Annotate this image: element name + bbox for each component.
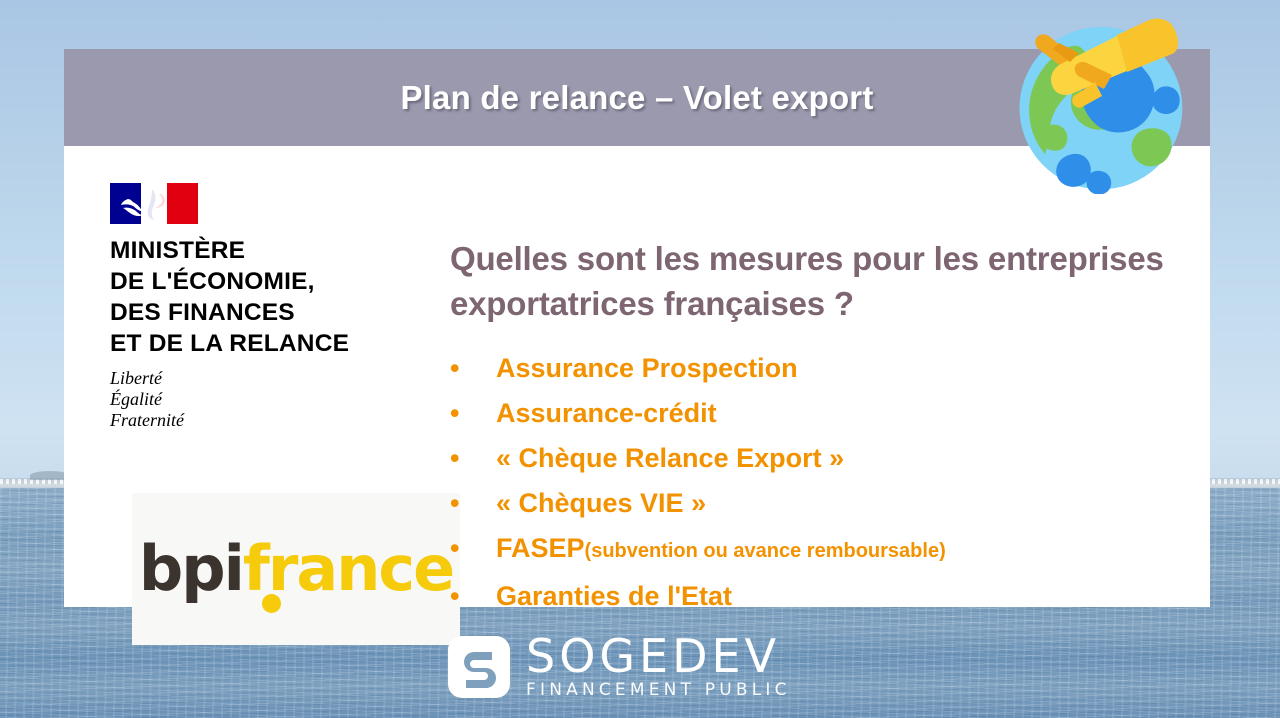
sogedev-tagline: FINANCEMENT PUBLIC <box>526 679 791 701</box>
motto-line: Fraternité <box>110 410 410 431</box>
ministry-line: DES FINANCES <box>110 297 410 328</box>
sogedev-logo: SOGEDEV FINANCEMENT PUBLIC <box>448 633 828 701</box>
bullet-icon: • <box>450 436 496 481</box>
bullet-icon: • <box>450 526 496 571</box>
measure-label: Assurance-crédit <box>496 391 717 436</box>
list-item: • Assurance-crédit <box>450 391 1210 436</box>
page-title: Quelles sont les mesures pour les entrep… <box>450 146 1210 326</box>
ministry-line: MINISTÈRE <box>110 235 410 266</box>
bullet-icon: • <box>450 574 496 619</box>
bullet-icon: • <box>450 346 496 391</box>
ministry-motto: Liberté Égalité Fraternité <box>110 368 410 431</box>
ministry-logo: MINISTÈRE DE L'ÉCONOMIE, DES FINANCES ET… <box>110 183 410 431</box>
slide-body: MINISTÈRE DE L'ÉCONOMIE, DES FINANCES ET… <box>64 146 1210 607</box>
ministry-line: DE L'ÉCONOMIE, <box>110 266 410 297</box>
list-item: • Assurance Prospection <box>450 346 1210 391</box>
french-republic-marianne-flag-icon <box>110 183 198 224</box>
measure-label: « Chèque Relance Export » <box>496 436 844 481</box>
list-item: • Garanties de l'Etat <box>450 574 1210 619</box>
list-item: • FASEP (subvention ou avance remboursab… <box>450 526 1210 574</box>
bullet-icon: • <box>450 481 496 526</box>
sogedev-text: SOGEDEV FINANCEMENT PUBLIC <box>526 633 791 701</box>
measure-label: « Chèques VIE » <box>496 481 706 526</box>
motto-line: Égalité <box>110 389 410 410</box>
logo-column: MINISTÈRE DE L'ÉCONOMIE, DES FINANCES ET… <box>110 183 460 431</box>
bpifrance-bpi-text: bpi <box>139 532 243 605</box>
measure-label: FASEP <box>496 526 585 571</box>
measure-label: Assurance Prospection <box>496 346 798 391</box>
slide-card: Plan de relance – Volet export <box>64 49 1210 607</box>
sogedev-s-mark-icon <box>448 636 510 698</box>
measure-note: (subvention ou avance remboursable) <box>585 529 946 574</box>
slide-title: Plan de relance – Volet export <box>400 79 873 117</box>
measure-label: Garanties de l'Etat <box>496 574 732 619</box>
sogedev-name: SOGEDEV <box>526 633 791 679</box>
measures-list: • Assurance Prospection • Assurance-créd… <box>450 346 1210 619</box>
content-column: Quelles sont les mesures pour les entrep… <box>450 146 1210 619</box>
motto-line: Liberté <box>110 368 410 389</box>
ministry-line: ET DE LA RELANCE <box>110 328 410 359</box>
slide-header-band: Plan de relance – Volet export <box>64 49 1210 146</box>
bpifrance-wordmark: bpifrance <box>139 538 453 600</box>
bpifrance-logo: bpifrance <box>132 493 460 645</box>
bpifrance-dot-icon <box>262 594 281 613</box>
list-item: • « Chèque Relance Export » <box>450 436 1210 481</box>
list-item: • « Chèques VIE » <box>450 481 1210 526</box>
bullet-icon: • <box>450 391 496 436</box>
